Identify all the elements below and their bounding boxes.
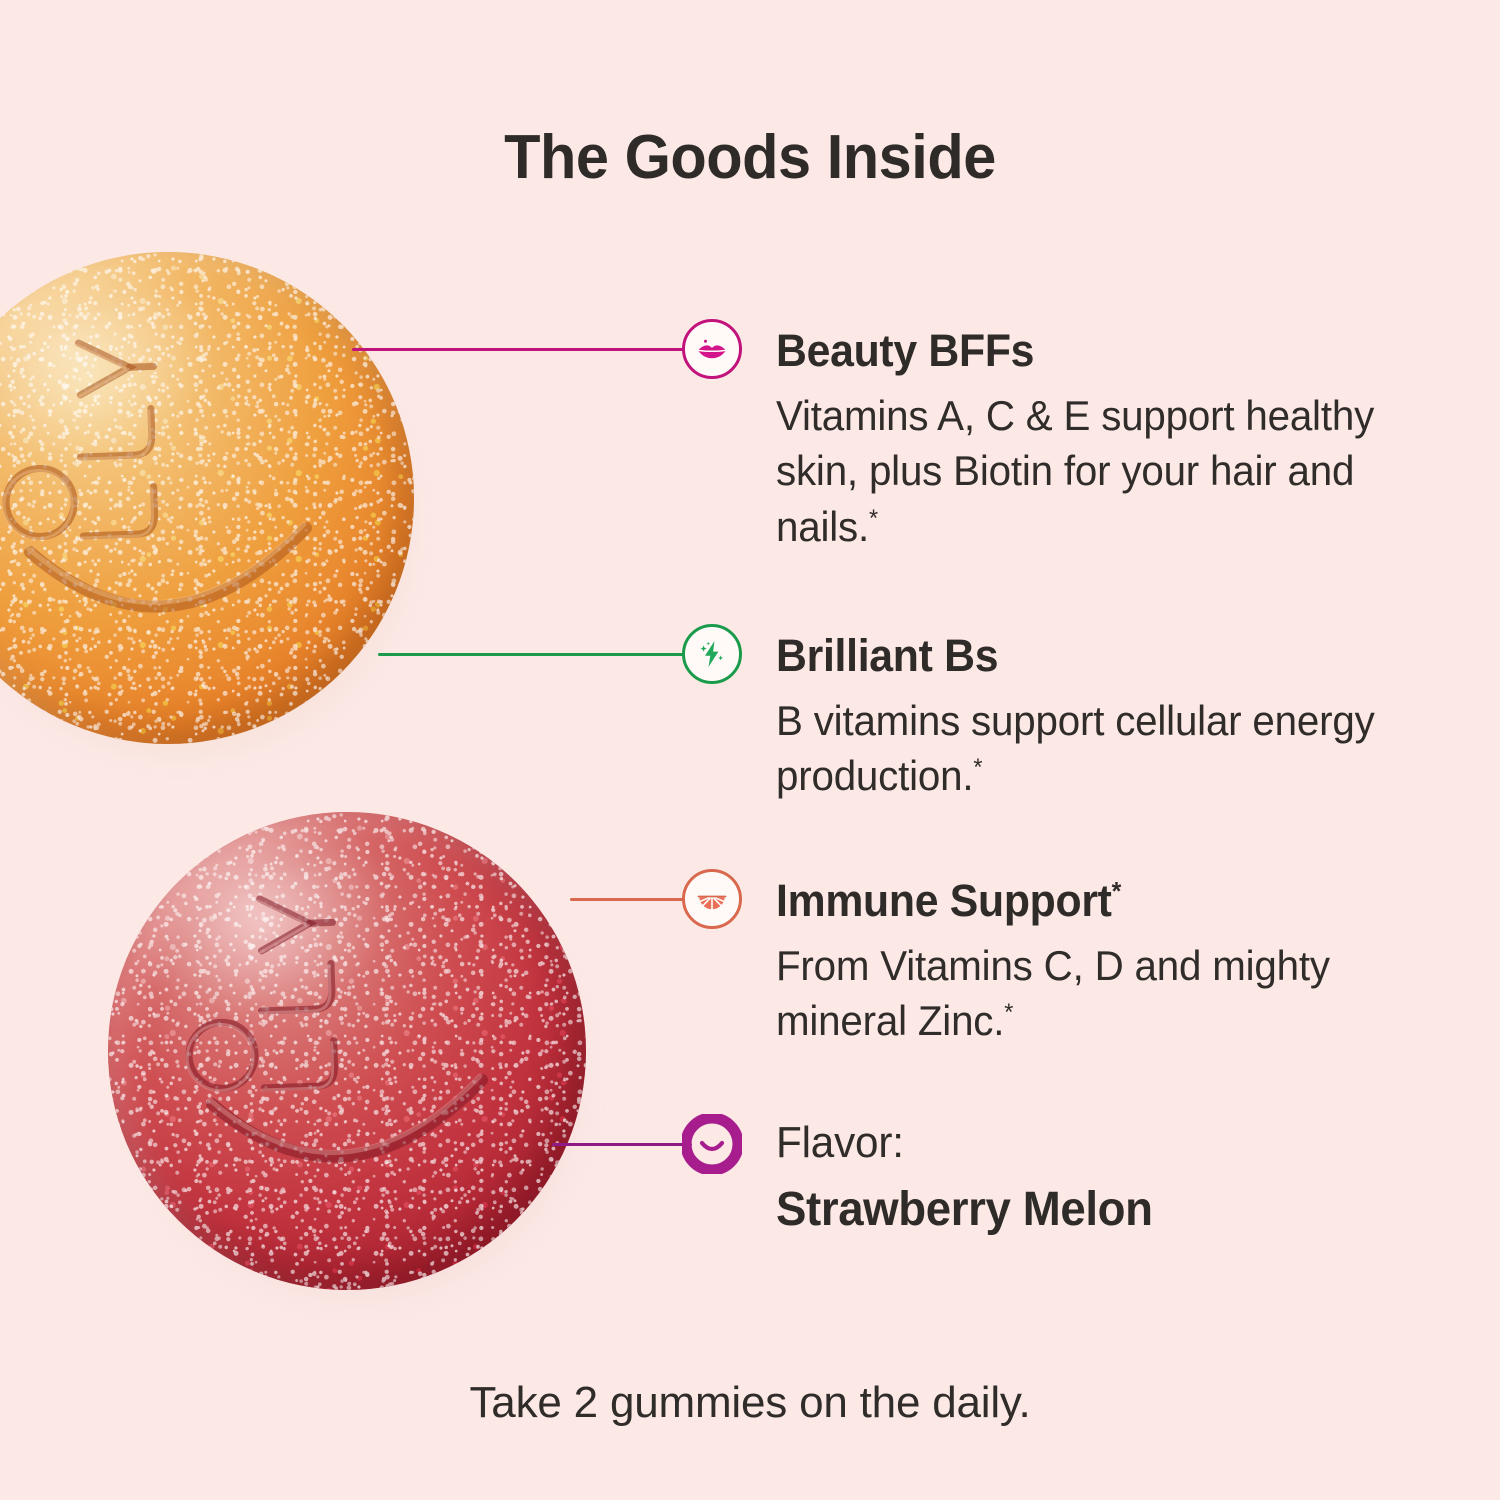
lightning-bolt-icon-badge <box>682 624 742 684</box>
item-heading-superscript: * <box>1112 876 1121 906</box>
page-title: The Goods Inside <box>30 122 1470 193</box>
berry-gummy-surface <box>108 812 586 1290</box>
item-heading-beauty: Beauty BFFs <box>776 325 1034 377</box>
footer-note: Take 2 gummies on the daily. <box>0 1378 1500 1428</box>
lightning-bolt-icon <box>692 634 732 674</box>
citrus-slice-icon <box>692 879 732 919</box>
connector-line-beauty <box>352 348 684 351</box>
item-heading-immune: Immune Support* <box>776 875 1121 927</box>
item-body-text: B vitamins support cellular energy produ… <box>776 697 1375 799</box>
connector-line-immune <box>570 898 684 901</box>
item-body-text: From Vitamins C, D and mighty mineral Zi… <box>776 942 1330 1044</box>
item-body-superscript: * <box>973 754 982 781</box>
berry-gummy-emboss <box>108 812 586 1290</box>
lips-icon-badge <box>682 319 742 379</box>
orange-gummy-emboss <box>0 252 414 744</box>
orange-gummy <box>0 252 414 744</box>
citrus-slice-icon-badge <box>682 869 742 929</box>
item-body-text: Vitamins A, C & E support healthy skin, … <box>776 392 1374 550</box>
flavor-label: Flavor: <box>776 1118 904 1168</box>
orange-gummy-surface <box>0 252 414 744</box>
lips-icon <box>692 329 732 369</box>
smile-circle-icon-badge <box>682 1114 742 1174</box>
infographic-page: The Goods Inside <box>0 0 1500 1500</box>
connector-line-flavor <box>552 1143 692 1146</box>
item-body-beauty: Vitamins A, C & E support healthy skin, … <box>776 388 1429 554</box>
item-heading-brilliant: Brilliant Bs <box>776 630 998 682</box>
item-body-superscript: * <box>1004 999 1013 1026</box>
item-body-superscript: * <box>869 505 878 532</box>
connector-line-brilliant <box>378 653 684 656</box>
item-body-brilliant: B vitamins support cellular energy produ… <box>776 693 1429 804</box>
item-body-immune: From Vitamins C, D and mighty mineral Zi… <box>776 938 1429 1049</box>
berry-gummy <box>108 812 586 1290</box>
item-heading-text: Immune Support <box>776 875 1112 926</box>
smile-circle-icon <box>682 1114 742 1174</box>
flavor-value: Strawberry Melon <box>776 1182 1153 1237</box>
